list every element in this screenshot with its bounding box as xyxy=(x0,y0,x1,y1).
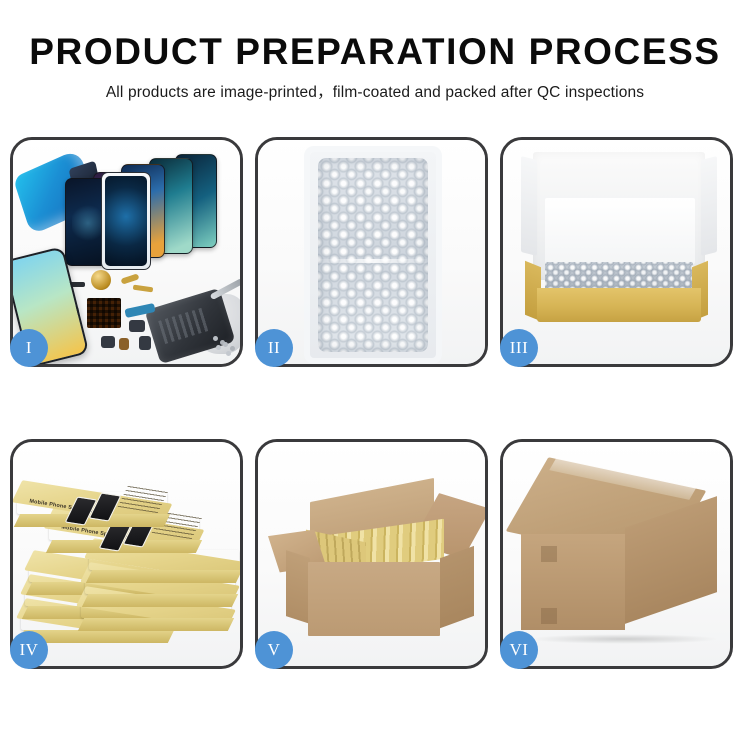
phone-parts-scene xyxy=(13,140,240,364)
open-carton xyxy=(276,476,474,646)
gold-connector-part xyxy=(121,273,140,284)
chip-array-part xyxy=(87,298,121,328)
step-panel-5: V xyxy=(255,439,488,669)
page-subtitle: All products are image-printed，film-coat… xyxy=(0,82,750,104)
step-image-5 xyxy=(258,442,485,666)
steps-grid: I II III xyxy=(10,137,740,685)
step-badge-6: VI xyxy=(500,631,538,669)
screen-glass-panel xyxy=(101,172,151,270)
step-image-3 xyxy=(503,140,730,364)
step-image-1 xyxy=(13,140,240,364)
step-badge-5: V xyxy=(255,631,293,669)
step-image-2 xyxy=(258,140,485,364)
header: PRODUCT PREPARATION PROCESS All products… xyxy=(0,30,750,104)
carton-front-face xyxy=(308,562,440,636)
step-badge-4: IV xyxy=(10,631,48,669)
bubble-wrap-texture xyxy=(318,158,428,352)
box-side-face xyxy=(82,594,238,607)
box-side-face xyxy=(78,618,234,631)
bag-seam xyxy=(318,259,428,263)
step-panel-1: I xyxy=(10,137,243,367)
carton-front-face xyxy=(521,534,625,630)
step-badge-1: I xyxy=(10,329,48,367)
stacked-inner-boxes: Mobile Phone Spare Parts Mobile Phone Sp… xyxy=(19,462,240,662)
step-badge-3: III xyxy=(500,329,538,367)
carton-handle-tab-top xyxy=(541,546,557,562)
bubble-wrapped-product xyxy=(545,262,693,290)
carton-left-face xyxy=(286,550,310,624)
vibrator-part xyxy=(139,336,151,350)
inner-box-stack-layer xyxy=(89,550,239,570)
step-image-6 xyxy=(503,442,730,666)
step-image-4: Mobile Phone Spare Parts Mobile Phone Sp… xyxy=(13,442,240,666)
page-title: PRODUCT PREPARATION PROCESS xyxy=(0,30,750,74)
button-part xyxy=(101,336,115,348)
screws-part xyxy=(213,336,239,354)
sealed-carton xyxy=(519,468,725,646)
product-preparation-infographic: PRODUCT PREPARATION PROCESS All products… xyxy=(0,0,750,750)
foam-insert xyxy=(545,198,695,264)
box-side-face xyxy=(86,570,240,583)
phone-lineup xyxy=(65,154,240,266)
step-panel-3: III xyxy=(500,137,733,367)
step-panel-4: Mobile Phone Spare Parts Mobile Phone Sp… xyxy=(10,439,243,669)
camera-module-part xyxy=(129,320,145,332)
speaker-coil-part xyxy=(91,270,111,290)
carton-right-face xyxy=(440,546,474,628)
carton-handle-tab-bottom xyxy=(541,608,557,624)
carton-shadow xyxy=(529,634,719,644)
bubble-wrap-bag xyxy=(310,152,436,358)
step-badge-2: II xyxy=(255,329,293,367)
gold-bracket-part xyxy=(133,285,154,293)
sim-tray-part xyxy=(119,338,129,350)
step-panel-6: VI xyxy=(500,439,733,669)
inner-box-front xyxy=(537,288,701,322)
step-panel-2: II xyxy=(255,137,488,367)
